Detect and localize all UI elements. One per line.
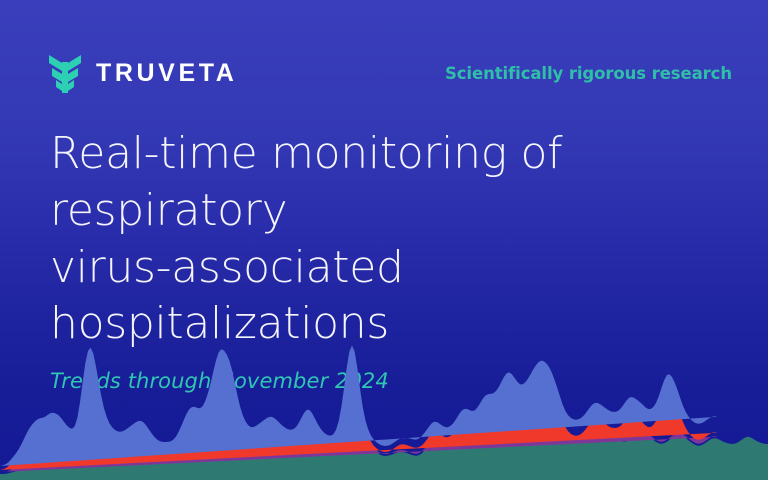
page-title-line-1: Real-time monitoring of respiratory <box>50 128 562 236</box>
hospitalizations-area-chart <box>0 280 768 480</box>
slide-canvas: TRUVETA Scientifically rigorous research… <box>0 0 768 480</box>
tagline-text: Scientifically rigorous research <box>445 64 732 83</box>
slide-header: TRUVETA Scientifically rigorous research <box>48 50 732 96</box>
truveta-logo-lockup: TRUVETA <box>48 52 237 94</box>
truveta-wordmark: TRUVETA <box>96 61 237 86</box>
chart-svg <box>0 280 768 480</box>
truveta-chevron-logo-icon <box>48 52 82 94</box>
